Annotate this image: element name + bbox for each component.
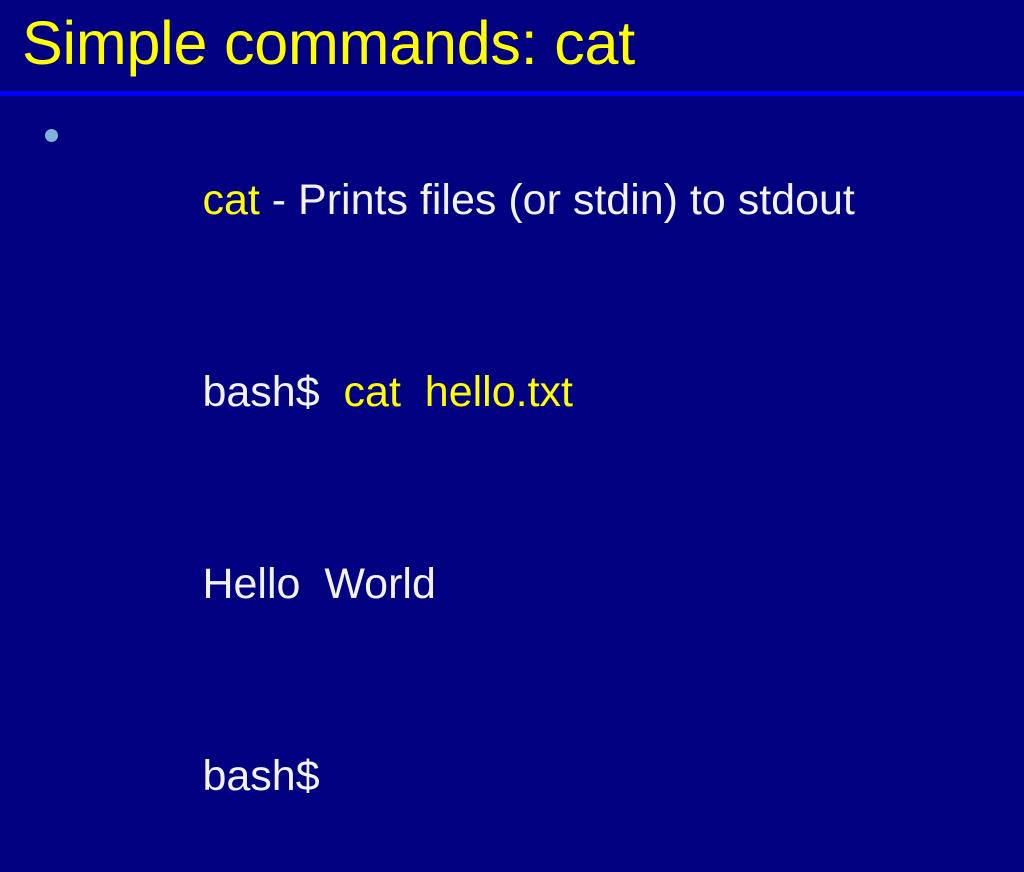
shell-command: cat hello.txt (344, 368, 573, 416)
command-description: - Prints files (or stdin) to stdout (260, 176, 855, 224)
title-area: Simple commands: cat (0, 0, 1024, 91)
list-item: cat - Prints files (or stdin) to stdout (83, 104, 1000, 296)
page-title: Simple commands: cat (22, 3, 635, 83)
shell-prompt-trailing: bash$ (202, 752, 319, 800)
list-item: bash$ cat hello.txt (83, 296, 1000, 488)
list-item: bash$ (83, 680, 1000, 872)
slide-body: cat - Prints files (or stdin) to stdout … (0, 96, 1024, 768)
disc-bullet-icon (45, 129, 58, 142)
bullet-text-lines: cat - Prints files (or stdin) to stdout … (83, 104, 1000, 872)
slide: Simple commands: cat cat - Prints files … (0, 0, 1024, 768)
shell-output: Hello World (202, 560, 435, 608)
command-name-cat: cat (202, 176, 259, 224)
bullet-item: cat - Prints files (or stdin) to stdout … (40, 104, 1000, 872)
shell-prompt: bash$ (202, 368, 343, 416)
list-item: Hello World (83, 488, 1000, 680)
